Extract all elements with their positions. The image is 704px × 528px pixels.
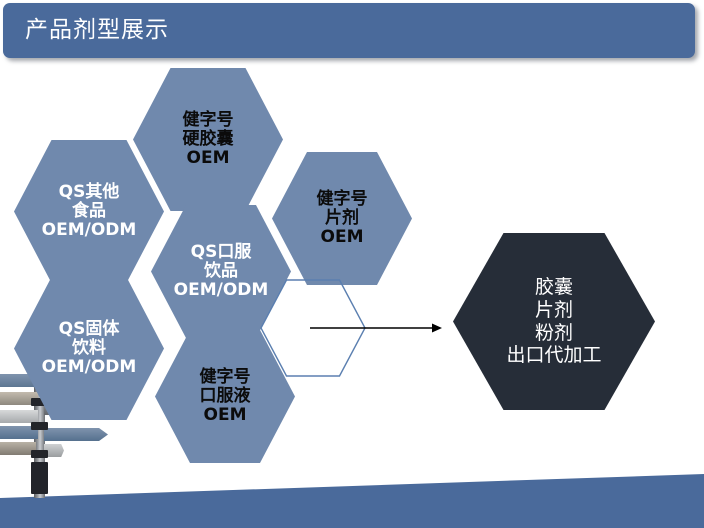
- hexagon-export-processing[interactable]: 胶囊 片剂 粉剂 出口代加工: [453, 233, 655, 410]
- signpost-arm: [44, 428, 108, 441]
- page-title: 产品剂型展示: [25, 14, 169, 46]
- slide-title-bar: 产品剂型展示: [3, 3, 695, 58]
- arrow-connector: [310, 318, 442, 338]
- signpost-box: [31, 462, 48, 494]
- hexagon-label: QS固体 饮料 OEM/ODM: [28, 320, 151, 377]
- hexagon-label: 健字号 口服液 OEM: [186, 368, 265, 425]
- hexagon-qs-other-food[interactable]: QS其他 食品 OEM/ODM: [14, 140, 164, 283]
- hexagon-label: QS其他 食品 OEM/ODM: [28, 183, 151, 240]
- signpost-collar: [31, 450, 48, 458]
- hexagon-label: 胶囊 片剂 粉剂 出口代加工: [492, 276, 615, 367]
- hexagon-jianzihao-hard-capsule[interactable]: 健字号 硬胶囊 OEM: [133, 68, 283, 211]
- hexagon-jianzihao-tablet[interactable]: 健字号 片剂 OEM: [272, 152, 412, 285]
- hexagon-label: 健字号 片剂 OEM: [303, 190, 382, 247]
- signpost-collar: [31, 422, 48, 430]
- hexagon-label: 健字号 硬胶囊 OEM: [169, 111, 248, 168]
- slide-canvas: 产品剂型展示 健字号 硬胶囊 OEM QS其他 食品 OEM/ODM 健字号 片…: [0, 0, 704, 528]
